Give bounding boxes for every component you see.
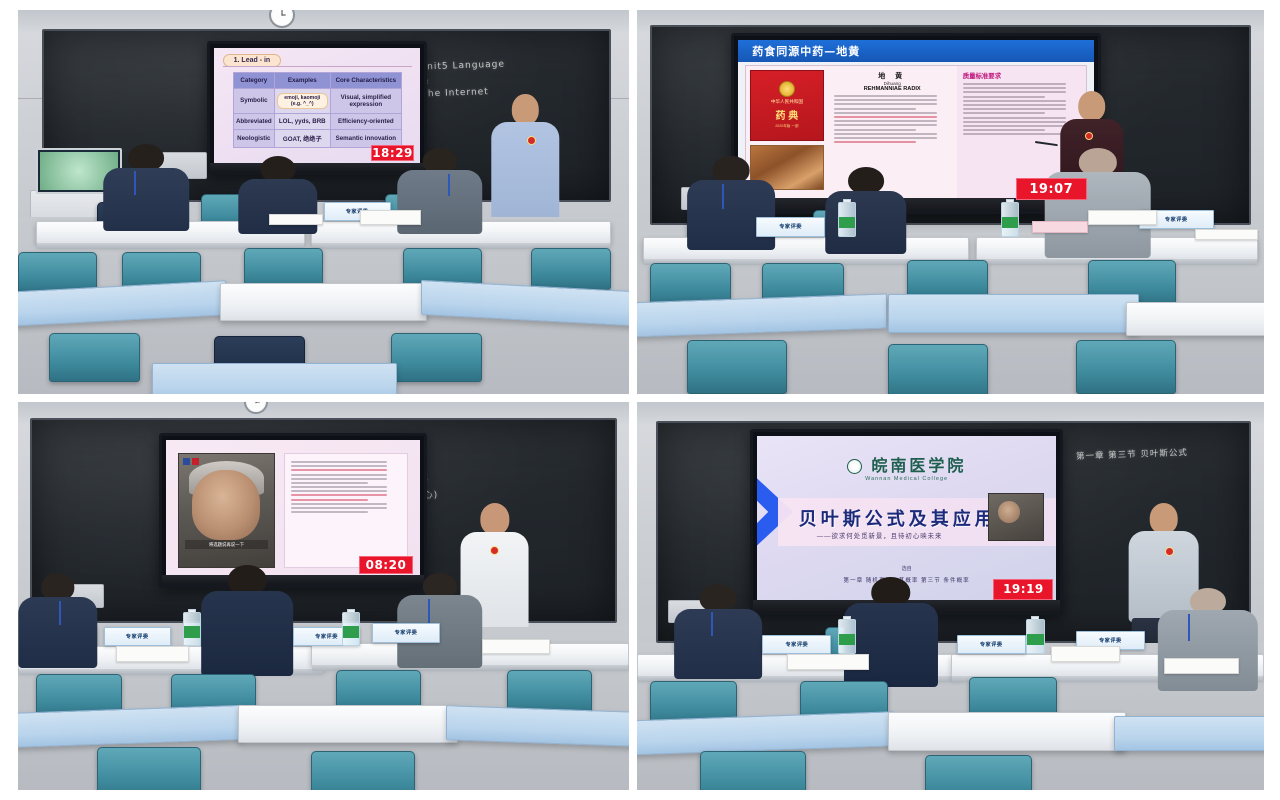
- paper-sheet: [787, 654, 869, 670]
- countdown-timer: 08:20: [359, 556, 413, 574]
- water-bottle: [838, 202, 857, 237]
- text-line: [834, 99, 937, 101]
- bottle-cap: [1006, 199, 1014, 203]
- judge-body: [201, 591, 293, 676]
- panel-top-left: unit5 Language & The Internet 1. Lead - …: [18, 10, 629, 394]
- paper-sheet: [269, 214, 324, 226]
- herb-name-latin: REHMANNIAE RADIX: [834, 86, 951, 92]
- cell-category: Abbreviated: [233, 113, 274, 129]
- paper-sheet: [482, 639, 549, 655]
- slide-title-bar: 药食同源中药—地黄: [738, 40, 1094, 62]
- presenter-body: [491, 122, 558, 233]
- table-row: Symbolic emoji, kaomoji (e.g. ^_^) Visua…: [233, 88, 401, 113]
- desk: [220, 283, 428, 321]
- slide-footer-label: 选自: [757, 565, 1057, 572]
- cell-characteristics: Visual, simplified expression: [330, 88, 401, 113]
- text-line: [291, 461, 388, 463]
- text-line-highlighted: [291, 494, 388, 496]
- judge: [675, 584, 763, 677]
- desk: [238, 705, 458, 744]
- judge: [18, 573, 97, 666]
- text-line: [963, 83, 1066, 85]
- bottle-cap: [347, 609, 355, 613]
- desk: [888, 294, 1139, 332]
- text-line: [291, 503, 388, 505]
- lanyard: [448, 174, 450, 196]
- text-line: [291, 465, 388, 467]
- vocabulary-table: Category Examples Core Characteristics S…: [233, 72, 402, 148]
- placard-text: 专家评委: [126, 633, 149, 640]
- text-line: [291, 486, 388, 488]
- text-line: [834, 124, 937, 126]
- text-line: [963, 87, 1066, 89]
- bottle-label: [1002, 217, 1019, 228]
- slide-title: 药食同源中药—地黄: [752, 43, 860, 59]
- text-line: [834, 137, 937, 139]
- bottle-label: [184, 626, 200, 637]
- text-line-highlighted: [834, 116, 937, 118]
- text-line: [834, 129, 916, 131]
- chair: [391, 333, 483, 383]
- text-line: [963, 125, 1066, 127]
- lanyard: [59, 601, 61, 625]
- slide-main-title: 贝叶斯公式及其应用: [799, 505, 997, 531]
- judge-placard: 专家评委: [372, 623, 439, 642]
- judge-body: [844, 603, 938, 688]
- placard-text: 专家评委: [779, 223, 802, 230]
- judge-body: [687, 180, 775, 250]
- water-bottle: [1001, 202, 1020, 237]
- text-line: [963, 133, 1066, 135]
- judge: [1157, 588, 1257, 689]
- lanyard: [428, 599, 430, 623]
- portrait-face: [192, 470, 260, 541]
- countdown-timer: 19:07: [1016, 178, 1087, 200]
- desk: [152, 363, 396, 394]
- screen-bezel: [734, 198, 1098, 210]
- tv-channel-logo-icon: [183, 458, 199, 465]
- bottle-label: [343, 626, 359, 637]
- bayes-portrait: [988, 493, 1045, 541]
- text-line: [963, 104, 1066, 106]
- column-header-examples: Examples: [274, 72, 330, 88]
- slide-divider: [223, 66, 412, 67]
- chair: [531, 248, 610, 290]
- text-line-highlighted: [291, 499, 368, 501]
- photo-collage: unit5 Language & The Internet 1. Lead - …: [0, 0, 1280, 800]
- text-line: [963, 112, 1045, 114]
- chair: [49, 333, 141, 383]
- judge-placard: 专家评委: [756, 217, 825, 236]
- screen-display: 1. Lead - in Category Examples Core Char…: [214, 48, 420, 168]
- university-seal-icon: [847, 459, 862, 474]
- countdown-timer: 19:19: [993, 579, 1053, 600]
- chair: [687, 340, 787, 394]
- cell-examples: LOL, yyds, BRB: [274, 113, 330, 129]
- paper-sheet: [1032, 221, 1088, 233]
- presenter-head: [1149, 503, 1178, 534]
- judge-body: [675, 609, 763, 680]
- paper-sheet: [116, 646, 189, 662]
- text-line: [963, 117, 1066, 119]
- quality-standard-heading: 质量标准要求: [963, 71, 1080, 80]
- lanyard: [1188, 614, 1190, 640]
- judge: [397, 573, 483, 666]
- placard-text: 专家评委: [315, 633, 338, 640]
- panel-top-right: 药食同源中药—地黄 中华人民共和国 药 典 2020年版 一部: [637, 10, 1264, 394]
- cell-examples: emoji, kaomoji (e.g. ^_^): [274, 88, 330, 113]
- text-line: [834, 112, 937, 114]
- desk: [1126, 302, 1264, 337]
- book-line-2: 药 典: [776, 107, 799, 122]
- text-line-highlighted: [834, 141, 916, 143]
- portrait-face: [998, 501, 1020, 522]
- column-header-category: Category: [233, 72, 274, 88]
- paper-sheet: [1195, 229, 1258, 241]
- text-line: [834, 103, 937, 105]
- judge-body: [18, 597, 97, 668]
- text-line: [963, 96, 1045, 98]
- text-line: [963, 100, 1066, 102]
- chair: [311, 751, 415, 790]
- news-text-block: [284, 453, 408, 569]
- example-chip: emoji, kaomoji (e.g. ^_^): [277, 93, 328, 109]
- placard-text: 专家评委: [785, 641, 808, 648]
- chair: [1076, 340, 1176, 394]
- bottle-label: [839, 217, 856, 228]
- water-bottle: [183, 612, 201, 647]
- news-portrait-photo: 将选题说再说一下: [178, 453, 274, 569]
- cell-category: Symbolic: [233, 88, 274, 113]
- presentation-screen[interactable]: 药食同源中药—地黄 中华人民共和国 药 典 2020年版 一部: [731, 33, 1101, 213]
- chair: [925, 755, 1032, 790]
- national-emblem-icon: [779, 81, 795, 97]
- chair: [97, 747, 201, 790]
- text-line: [291, 482, 368, 484]
- judge-placard: 专家评委: [957, 635, 1026, 654]
- text-line: [963, 91, 1066, 93]
- presenter-head: [480, 503, 509, 535]
- presenter-badge: [527, 136, 536, 145]
- panel-bottom-left: 创新 (匠心) 将选题说再说一下: [18, 402, 629, 790]
- text-line: [963, 121, 1066, 123]
- table-row: Abbreviated LOL, yyds, BRB Efficiency-or…: [233, 113, 401, 129]
- logo-block-red: [192, 458, 199, 465]
- judge-placard: 专家评委: [104, 627, 171, 646]
- text-line: [834, 133, 937, 135]
- desk: [888, 712, 1126, 751]
- text-line: [291, 474, 388, 476]
- text-line: [291, 478, 388, 480]
- presenter: [488, 94, 561, 232]
- herb-name-cn: 地 黄: [834, 71, 951, 81]
- text-line: [834, 120, 937, 122]
- book-line-3: 2020年版 一部: [775, 124, 798, 129]
- judge-placard: 专家评委: [762, 635, 831, 654]
- paper-sheet: [360, 210, 421, 225]
- water-bottle: [838, 619, 857, 654]
- judge: [1045, 148, 1152, 256]
- lanyard: [134, 171, 136, 195]
- text-line: [963, 108, 1066, 110]
- pharmacopoeia-book-cover: 中华人民共和国 药 典 2020年版 一部: [750, 70, 824, 141]
- bottle-cap: [843, 199, 851, 203]
- cell-category: Neologistic: [233, 129, 274, 147]
- bottle-label: [839, 634, 856, 645]
- bottle-cap: [188, 609, 196, 613]
- presenter-head: [512, 94, 538, 124]
- judge: [201, 565, 293, 674]
- placard-text: 专家评委: [1165, 216, 1188, 223]
- judge-body: [238, 179, 317, 234]
- panel-bottom-right: 第一章 第三节 贝叶斯公式 皖南医学院 Wannan Medical Colle…: [637, 402, 1264, 790]
- university-header: 皖南医学院 Wannan Medical College: [757, 452, 1057, 482]
- placard-text: 专家评委: [980, 641, 1003, 648]
- text-line: [834, 95, 937, 97]
- placard-text: 专家评委: [1099, 637, 1122, 644]
- university-name-en: Wannan Medical College: [757, 476, 1057, 482]
- water-bottle: [342, 612, 360, 647]
- text-line: [963, 129, 1045, 131]
- text-line: [834, 108, 916, 110]
- desk: [446, 705, 629, 748]
- paper-sheet: [1088, 210, 1157, 225]
- screen-display: 药食同源中药—地黄 中华人民共和国 药 典 2020年版 一部: [738, 40, 1094, 206]
- text-line: [291, 490, 388, 492]
- university-name-cn: 皖南医学院: [871, 456, 966, 475]
- text-line: [291, 511, 368, 513]
- book-line-1: 中华人民共和国: [771, 99, 803, 105]
- text-line: [291, 507, 388, 509]
- lanyard: [722, 184, 724, 210]
- photo-caption: 将选题说再说一下: [185, 540, 268, 549]
- placard-text: 专家评委: [395, 629, 418, 636]
- cell-characteristics: Efficiency-oriented: [330, 113, 401, 129]
- chair: [888, 344, 988, 394]
- countdown-timer: 18:29: [371, 145, 414, 161]
- chair: [700, 751, 807, 790]
- column-header-characteristics: Core Characteristics: [330, 72, 401, 88]
- water-bottle: [1026, 619, 1045, 654]
- paper-sheet: [1051, 646, 1120, 662]
- judge: [104, 144, 190, 228]
- lanyard: [711, 612, 713, 636]
- bottle-cap: [1031, 616, 1039, 620]
- bottle-cap: [843, 616, 851, 620]
- cell-examples: GOAT, 绝绝子: [274, 129, 330, 147]
- paper-sheet: [1164, 658, 1239, 674]
- desk: [1114, 716, 1264, 751]
- table-header-row: Category Examples Core Characteristics: [233, 72, 401, 88]
- text-line-highlighted: [291, 469, 388, 471]
- screen-display: 将选题说再说一下: [166, 440, 421, 581]
- bottle-label: [1027, 634, 1044, 645]
- presenter-head: [1078, 91, 1106, 121]
- judge-body: [1157, 610, 1257, 691]
- judge-body: [104, 168, 190, 231]
- slide-subtitle: ——欲求何处觅新景，且待初心映未来: [817, 531, 943, 540]
- logo-block: [183, 458, 190, 465]
